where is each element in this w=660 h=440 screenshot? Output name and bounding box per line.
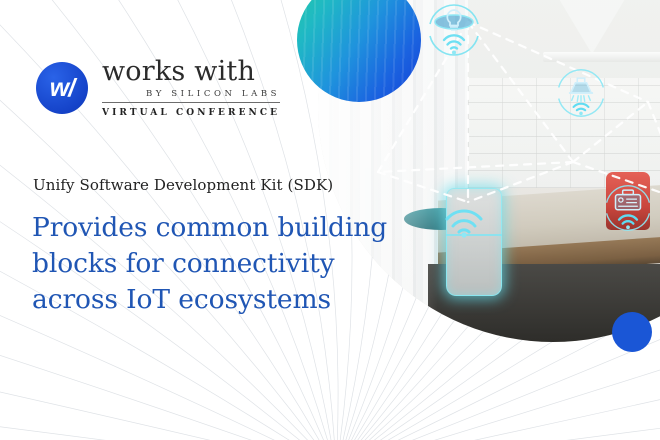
brand-wordmark: works with BY SILICON LABS VIRTUAL CONFE… [102, 58, 280, 118]
eyebrow-text: Unify Software Development Kit (SDK) [33, 176, 333, 194]
logo-mark-text: w/ [50, 76, 74, 101]
coffee-machine-icon-badge [603, 183, 653, 233]
range-hood-icon-badge [555, 67, 607, 119]
lightbulb-icon-badge [426, 2, 482, 58]
blue-dot-decoration [612, 312, 652, 352]
wordmark-event: VIRTUAL CONFERENCE [102, 108, 280, 118]
wordmark-byline: BY SILICON LABS [102, 89, 280, 103]
wordmark-title: works with [102, 58, 280, 85]
wifi-icon [442, 203, 486, 237]
lightbulb-icon [426, 2, 482, 58]
slide-canvas: w/ works with BY SILICON LABS VIRTUAL CO… [0, 0, 660, 440]
brand-logo: w/ works with BY SILICON LABS VIRTUAL CO… [36, 58, 280, 118]
page-title: Provides common building blocks for conn… [32, 210, 424, 318]
coffee-machine-icon [603, 183, 653, 233]
wifi-icon-badge [442, 203, 486, 237]
works-with-logo-mark: w/ [36, 62, 88, 114]
range-hood-icon [555, 67, 607, 119]
